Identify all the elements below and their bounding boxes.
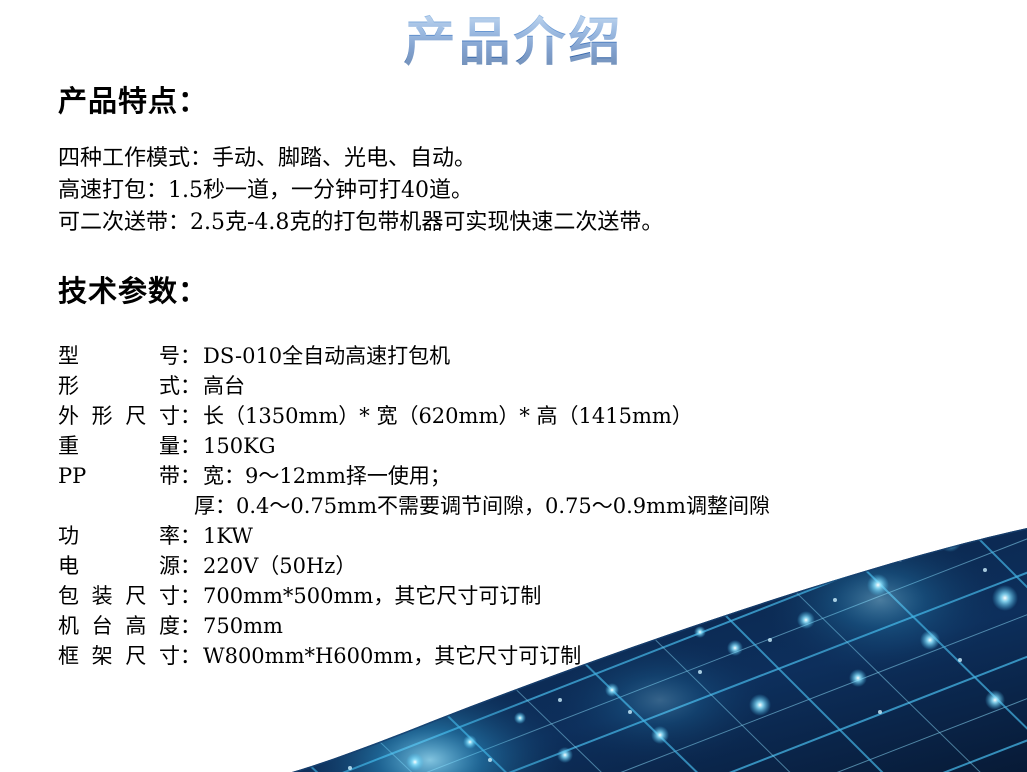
slide-title: 产品介绍 — [0, 14, 1027, 71]
feature-item: 可二次送带：2.5克-4.8克的打包带机器可实现快速二次送带。 — [58, 207, 663, 239]
spec-value: 220V（50Hz） — [203, 551, 356, 581]
spec-label: 框架尺寸 — [58, 641, 180, 671]
spec-row: PP 带 ： 宽：9～12mm择一使用； — [58, 461, 770, 491]
spec-row: 型 号 ： DS-010全自动高速打包机 — [58, 341, 770, 371]
spec-value: 宽：9～12mm择一使用； — [203, 461, 451, 491]
slide: 产品介绍 产品特点： 四种工作模式：手动、脚踏、光电、自动。 高速打包：1.5秒… — [0, 0, 1027, 772]
features-heading: 产品特点： — [58, 78, 208, 120]
spec-value: 1KW — [203, 521, 253, 551]
spec-row: 机台高度 ： 750mm — [58, 611, 770, 641]
spec-row: 功 率 ： 1KW — [58, 521, 770, 551]
feature-item: 四种工作模式：手动、脚踏、光电、自动。 — [58, 143, 663, 175]
spec-colon: ： — [180, 461, 203, 491]
spec-value: 750mm — [203, 611, 283, 641]
spec-colon: ： — [180, 521, 203, 551]
spec-value: 150KG — [203, 431, 276, 461]
spec-colon: ： — [180, 611, 203, 641]
spec-label: 包装尺寸 — [58, 581, 180, 611]
spec-row: 重 量 ： 150KG — [58, 431, 770, 461]
spec-row: 包装尺寸 ： 700mm*500mm，其它尺寸可订制 — [58, 581, 770, 611]
spec-colon: ： — [180, 341, 203, 371]
spec-value: 长（1350mm）* 宽（620mm）* 高（1415mm） — [203, 401, 693, 431]
spec-value: 700mm*500mm，其它尺寸可订制 — [203, 581, 541, 611]
spec-label: 型 号 — [58, 341, 180, 371]
spec-row: 外形尺寸 ： 长（1350mm）* 宽（620mm）* 高（1415mm） — [58, 401, 770, 431]
spec-colon: ： — [180, 581, 203, 611]
spec-value: 厚：0.4～0.75mm不需要调节间隙，0.75～0.9mm调整间隙 — [182, 491, 770, 521]
spec-colon: ： — [180, 401, 203, 431]
spec-value: W800mm*H600mm，其它尺寸可订制 — [203, 641, 581, 671]
slide-content: 产品特点： 四种工作模式：手动、脚踏、光电、自动。 高速打包：1.5秒一道，一分… — [0, 0, 1027, 772]
spec-value: DS-010全自动高速打包机 — [203, 341, 450, 371]
slide-title-text: 产品介绍 — [403, 14, 623, 71]
spec-label: 功 率 — [58, 521, 180, 551]
spec-label: 机台高度 — [58, 611, 180, 641]
spec-row: 形 式 ： 高台 — [58, 371, 770, 401]
spec-colon: ： — [180, 551, 203, 581]
spec-row: 电 源 ： 220V（50Hz） — [58, 551, 770, 581]
spec-label: 电 源 — [58, 551, 180, 581]
spec-colon: ： — [180, 431, 203, 461]
spec-label: 重 量 — [58, 431, 180, 461]
spec-colon: ： — [180, 371, 203, 401]
spec-colon: ： — [180, 641, 203, 671]
spec-row: 框架尺寸 ： W800mm*H600mm，其它尺寸可订制 — [58, 641, 770, 671]
feature-item: 高速打包：1.5秒一道，一分钟可打40道。 — [58, 175, 663, 207]
specs-list: 型 号 ： DS-010全自动高速打包机 形 式 ： 高台 外形尺寸 ： 长（1… — [58, 341, 770, 671]
spec-label: PP 带 — [58, 461, 180, 491]
specs-heading: 技术参数： — [58, 268, 208, 310]
spec-label: 外形尺寸 — [58, 401, 180, 431]
spec-row-continued: 厚：0.4～0.75mm不需要调节间隙，0.75～0.9mm调整间隙 — [58, 491, 770, 521]
spec-value: 高台 — [203, 371, 245, 401]
spec-label: 形 式 — [58, 371, 180, 401]
features-list: 四种工作模式：手动、脚踏、光电、自动。 高速打包：1.5秒一道，一分钟可打40道… — [58, 143, 663, 239]
